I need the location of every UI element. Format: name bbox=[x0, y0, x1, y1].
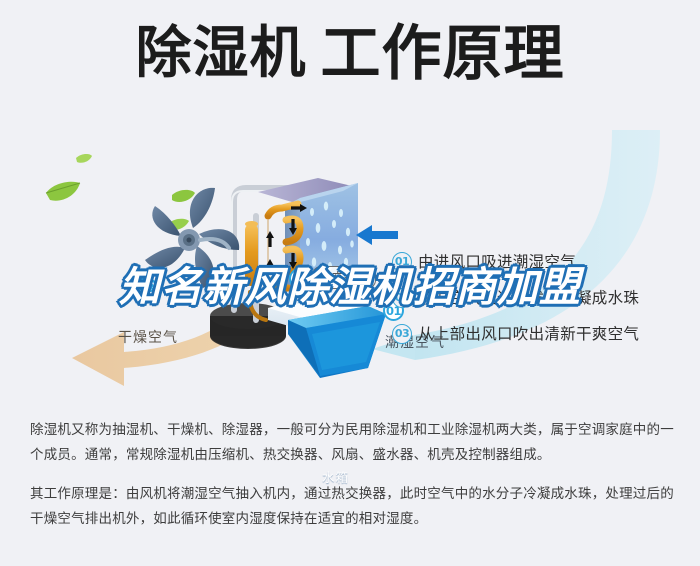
watermark-text: 知名新风除湿机招商加盟 bbox=[119, 264, 581, 310]
page-root: 除湿机工作原理 bbox=[0, 0, 700, 566]
legend-badge-03: 03 bbox=[392, 324, 412, 344]
title-segment-product: 除湿机 bbox=[136, 22, 307, 86]
inlet-air-arrow bbox=[356, 225, 398, 245]
paragraph-principle: 其工作原理是：由风机将潮湿空气抽入机内，通过热交换器，此时空气中的水分子冷凝成水… bbox=[30, 482, 680, 532]
description-block: 除湿机又称为抽湿机、干燥机、除湿器，一般可分为民用除湿机和工业除湿机两大类，属于… bbox=[30, 418, 680, 532]
page-title: 除湿机工作原理 bbox=[0, 22, 700, 86]
label-dry-air: 干燥空气 bbox=[118, 327, 178, 347]
watermark-overlay: 知名新风除湿机招商加盟 bbox=[0, 264, 700, 310]
legend-text-03: 从上部出风口吹出清新干爽空气 bbox=[418, 322, 639, 344]
paragraph-definition: 除湿机又称为抽湿机、干燥机、除湿器，一般可分为民用除湿机和工业除湿机两大类，属于… bbox=[30, 418, 680, 468]
title-segment-principle: 工作原理 bbox=[321, 22, 565, 86]
leaf-icon-group bbox=[46, 154, 195, 230]
list-item: 03 从上部出风口吹出清新干爽空气 bbox=[392, 320, 692, 352]
